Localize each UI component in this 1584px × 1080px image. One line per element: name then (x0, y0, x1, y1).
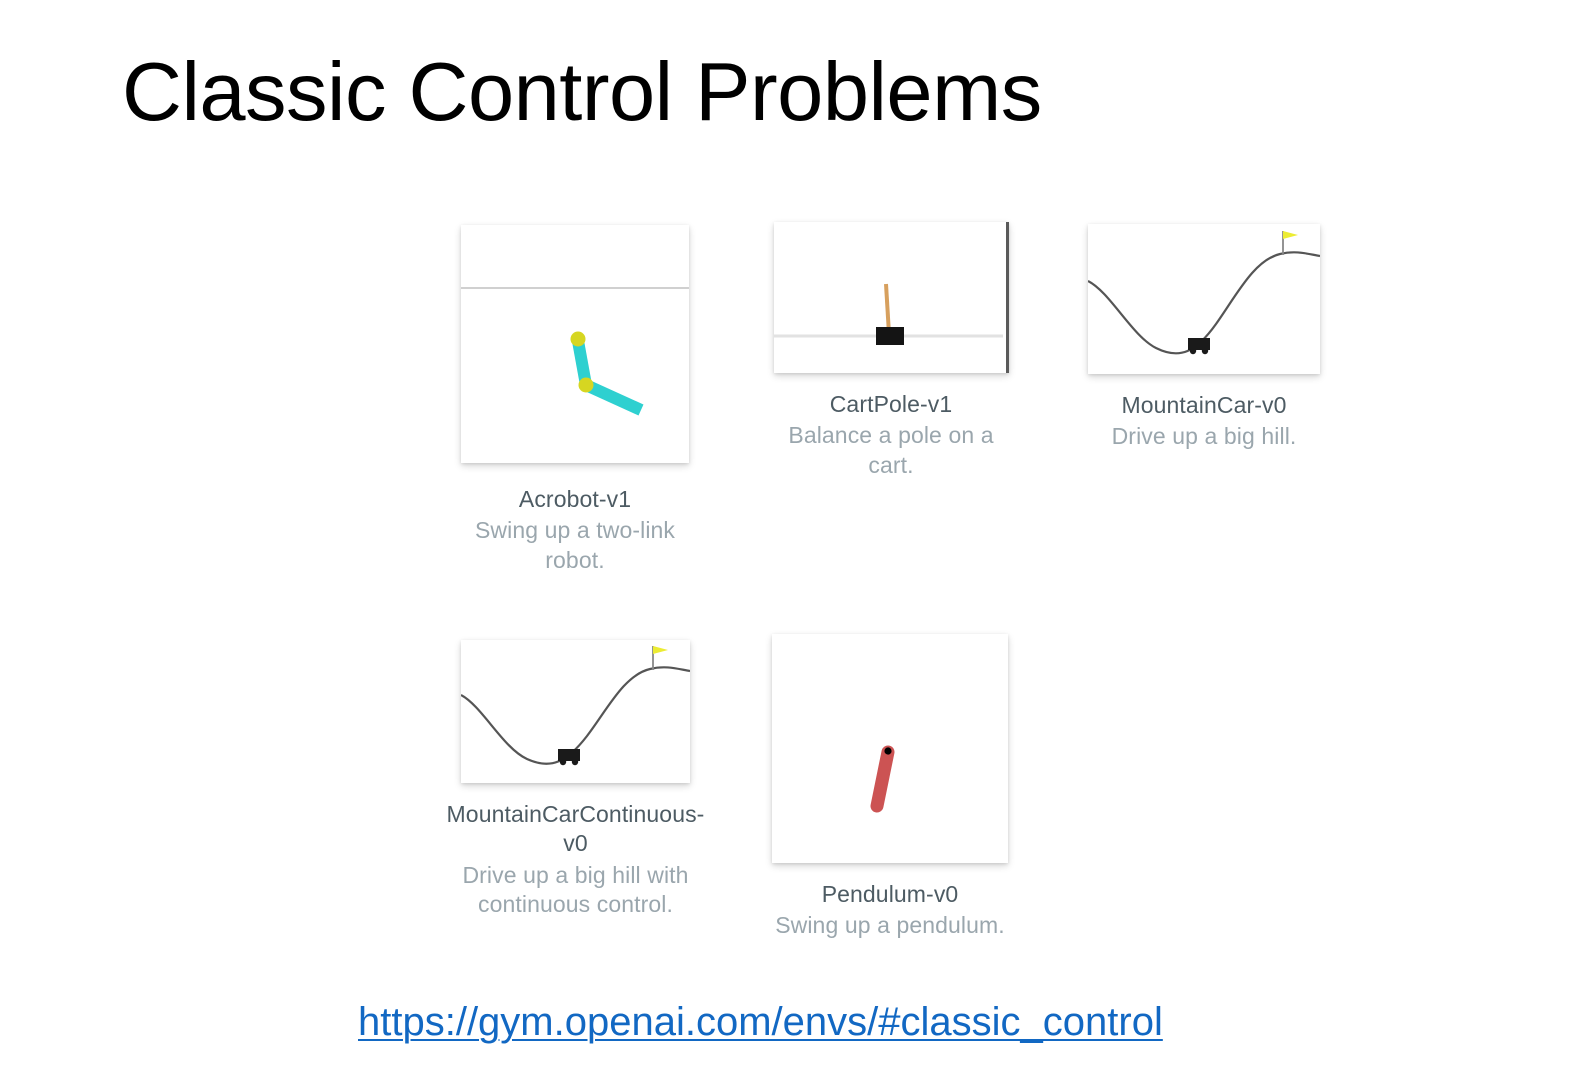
acrobot-render-icon (461, 225, 689, 463)
pendulum-render-icon (772, 634, 1008, 863)
cartpole-thumbnail[interactable] (774, 222, 1009, 373)
pendulum-thumbnail[interactable] (772, 634, 1008, 863)
env-name-mountaincarcontinuous: MountainCarContinuous-v0 (447, 800, 705, 859)
cartpole-render-icon (774, 222, 1003, 373)
mountaincar-render-icon (1088, 224, 1320, 374)
env-name-mountaincar: MountainCar-v0 (1121, 391, 1286, 420)
env-description-mountaincarcontinuous: Drive up a big hill with continuous cont… (461, 861, 690, 920)
env-name-pendulum: Pendulum-v0 (822, 880, 959, 909)
env-description-mountaincar: Drive up a big hill. (1112, 422, 1297, 451)
env-description-acrobot: Swing up a two-link robot. (461, 516, 689, 575)
env-card-mountaincarcontinuous[interactable]: MountainCarContinuous-v0 Drive up a big … (461, 640, 690, 920)
source-link[interactable]: https://gym.openai.com/envs/#classic_con… (358, 1000, 1163, 1044)
page-title: Classic Control Problems (122, 48, 1042, 135)
env-description-cartpole: Balance a pole on a cart. (775, 421, 1007, 480)
mountaincar-render-icon (461, 640, 690, 783)
acrobot-thumbnail[interactable] (461, 225, 689, 463)
env-card-cartpole[interactable]: CartPole-v1 Balance a pole on a cart. (775, 222, 1007, 480)
env-name-cartpole: CartPole-v1 (830, 390, 953, 419)
env-card-pendulum[interactable]: Pendulum-v0 Swing up a pendulum. (772, 634, 1008, 941)
mountaincarcontinuous-thumbnail[interactable] (461, 640, 690, 783)
env-card-mountaincar[interactable]: MountainCar-v0 Drive up a big hill. (1088, 224, 1320, 452)
env-name-acrobot: Acrobot-v1 (519, 485, 631, 514)
env-description-pendulum: Swing up a pendulum. (775, 911, 1005, 940)
mountaincar-thumbnail[interactable] (1088, 224, 1320, 374)
env-card-acrobot[interactable]: Acrobot-v1 Swing up a two-link robot. (461, 225, 689, 575)
